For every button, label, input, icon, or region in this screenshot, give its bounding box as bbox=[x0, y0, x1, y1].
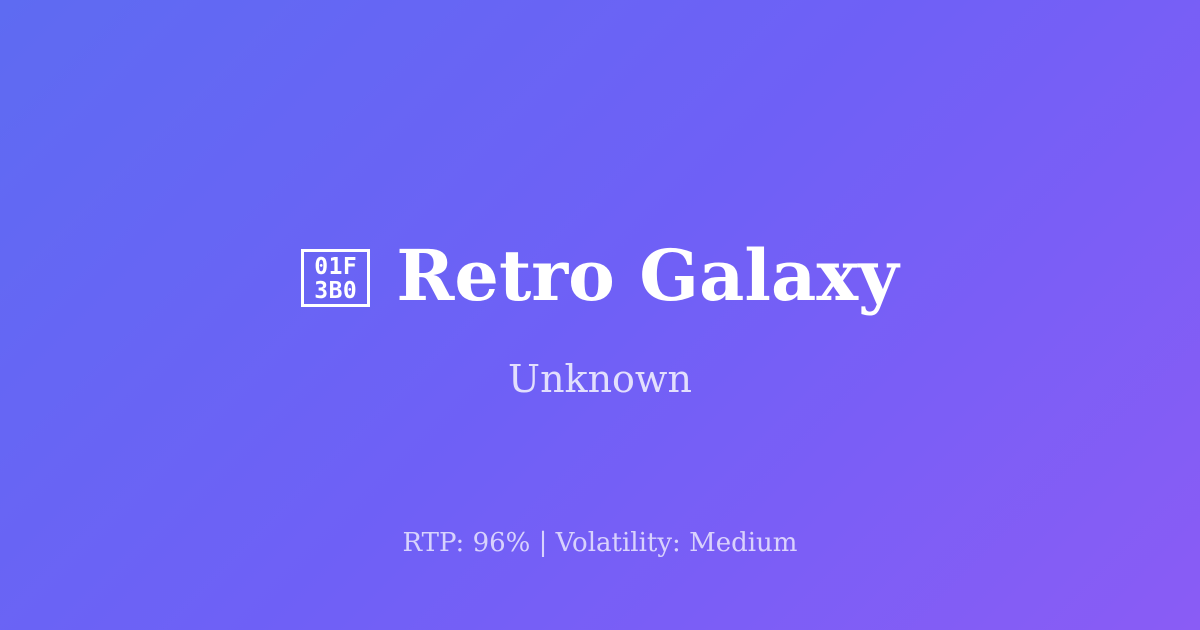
game-provider-subtitle: Unknown bbox=[508, 356, 692, 402]
title-row: 01F 3B0 Retro Galaxy bbox=[301, 228, 898, 324]
tofu-codepoint-bottom: 3B0 bbox=[314, 279, 357, 303]
game-stats-line: RTP: 96% | Volatility: Medium bbox=[0, 527, 1200, 559]
tofu-codepoint-top: 01F bbox=[314, 255, 357, 279]
slot-machine-emoji-icon: 01F 3B0 bbox=[301, 249, 370, 307]
page-title: Retro Galaxy bbox=[396, 234, 898, 318]
hero-block: 01F 3B0 Retro Galaxy Unknown bbox=[0, 228, 1200, 402]
game-preview-card: 01F 3B0 Retro Galaxy Unknown RTP: 96% | … bbox=[0, 0, 1200, 630]
